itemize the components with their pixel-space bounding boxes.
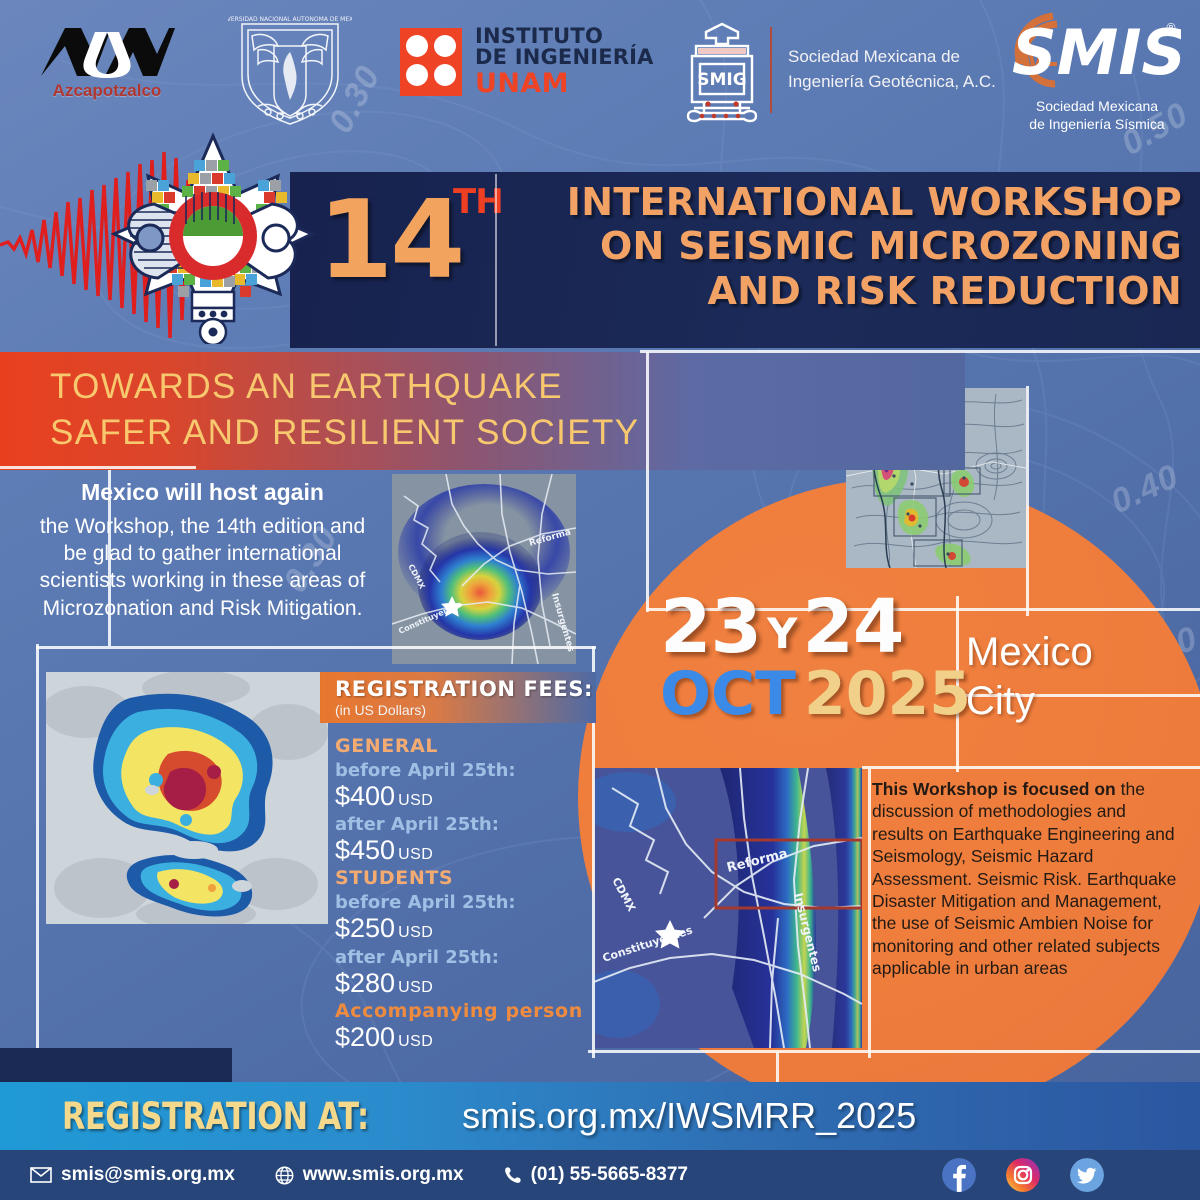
- guide-line: [36, 646, 596, 649]
- phone-icon: [504, 1166, 522, 1184]
- fee-currency: USD: [398, 846, 433, 863]
- logo-smig: SMIG Sociedad Mexicana de Ingeniería Geo…: [682, 16, 996, 124]
- fee-amount: $450USD: [335, 835, 596, 865]
- map-valley-of-mexico-zonation: [46, 672, 328, 924]
- fee-amount-value: $250: [335, 913, 395, 943]
- guide-line: [1026, 386, 1029, 616]
- guide-line: [862, 766, 1200, 769]
- subtitle-line1: TOWARDS AN EARTHQUAKE: [50, 364, 850, 410]
- event-month: OCT: [660, 659, 796, 729]
- fee-currency: USD: [398, 979, 433, 996]
- fees-title: REGISTRATION FEES:: [335, 677, 596, 701]
- title-divider: [495, 174, 497, 346]
- fee-when: before April 25th:: [335, 892, 596, 913]
- workshop-title-line1: INTERNATIONAL WORKSHOP: [502, 180, 1182, 224]
- logo-uam-azcapotzalco: Azcapotzalco: [22, 24, 192, 101]
- registration-fees-panel: REGISTRATION FEES: (in US Dollars) GENER…: [320, 672, 596, 1052]
- fee-currency: USD: [398, 924, 433, 941]
- fees-body: GENERAL before April 25th: $400USD after…: [320, 723, 596, 1052]
- registration-label: REGISTRATION AT:: [62, 1095, 369, 1138]
- smis-line2: de Ingeniería Sísmica: [1002, 116, 1192, 134]
- logo-smis: SMIS ® Sociedad Mexicana de Ingeniería S…: [1002, 12, 1192, 133]
- envelope-icon: [30, 1167, 52, 1183]
- subtitle-text: TOWARDS AN EARTHQUAKE SAFER AND RESILIEN…: [50, 364, 850, 456]
- title-block: 14 TH INTERNATIONAL WORKSHOP ON SEISMIC …: [290, 172, 1200, 348]
- fee-category-accompanying: Accompanying person: [335, 1000, 596, 1022]
- fee-amount: $200USD: [335, 1022, 596, 1052]
- guide-line: [640, 350, 1200, 353]
- fee-amount: $280USD: [335, 968, 596, 998]
- smis-wordmark: Sociedad Mexicana de Ingeniería Sísmica: [1002, 98, 1192, 133]
- fee-currency: USD: [398, 1033, 433, 1050]
- guide-line: [646, 352, 649, 612]
- poster-canvas: 0.30 0.40 0.50 0.30 0.40 Azcapotzalco: [0, 0, 1200, 1200]
- guide-line: [36, 644, 39, 1048]
- fee-when: after April 25th:: [335, 814, 596, 835]
- event-day-1: 23: [660, 584, 761, 670]
- contact-phone-text: (01) 55-5665-8377: [531, 1164, 688, 1186]
- guide-line: [776, 1052, 779, 1082]
- fee-category-general: GENERAL: [335, 735, 596, 757]
- event-city-line2: City: [966, 677, 1093, 726]
- bottom-left-navy-corner: [0, 1048, 232, 1084]
- event-year: 2025: [804, 659, 971, 729]
- twitter-icon[interactable]: [1070, 1158, 1104, 1192]
- workshop-title-line3: AND RISK REDUCTION: [502, 269, 1182, 313]
- uam-logo-subtitle: Azcapotzalco: [22, 81, 192, 101]
- fee-amount-value: $450: [335, 835, 395, 865]
- smig-wordmark: Sociedad Mexicana de Ingeniería Geotécni…: [788, 45, 996, 94]
- smig-divider: [770, 27, 772, 113]
- facebook-icon[interactable]: [942, 1158, 976, 1192]
- smig-line2: Ingeniería Geotécnica, A.C.: [788, 70, 996, 95]
- globe-icon: [275, 1166, 294, 1185]
- smig-line1: Sociedad Mexicana de: [788, 45, 996, 70]
- fee-amount: $400USD: [335, 781, 596, 811]
- fee-when: before April 25th:: [335, 760, 596, 781]
- fee-when: after April 25th:: [335, 947, 596, 968]
- event-date-block: 23Y24 OCT2025: [660, 592, 971, 724]
- fee-amount-value: $280: [335, 968, 395, 998]
- registration-url[interactable]: smis.org.mx/IWSMRR_2025: [462, 1095, 916, 1137]
- contact-bar: smis@smis.org.mx www.smis.org.mx (01) 55…: [0, 1150, 1200, 1200]
- social-links: [942, 1158, 1104, 1192]
- event-day-2: 24: [802, 584, 903, 670]
- workshop-focus-paragraph: This Workshop is focused on the discussi…: [872, 778, 1182, 980]
- map-mexico-city-amplification: Reforma Insurgentes Constituyentes CDMX: [392, 474, 576, 664]
- contact-website-text: www.smis.org.mx: [303, 1164, 464, 1186]
- iingen-window-icon: [400, 28, 462, 96]
- uam-logo-icon: [37, 24, 177, 78]
- workshop-title-line2: ON SEISMIC MICROZONING: [502, 224, 1182, 268]
- svg-text:SMIS: SMIS: [1013, 16, 1181, 89]
- registration-bar: REGISTRATION AT: smis.org.mx/IWSMRR_2025: [0, 1082, 1200, 1150]
- subtitle-line2: SAFER AND RESILIENT SOCIETY: [50, 410, 850, 456]
- logo-instituto-ingenieria-unam: INSTITUTO DE INGENIERÍA UNAM: [400, 26, 654, 97]
- unam-shield-icon: UNIVERSIDAD NACIONAL AUTONOMA DE MEXICO: [228, 10, 352, 130]
- contact-phone[interactable]: (01) 55-5665-8377: [504, 1164, 688, 1186]
- smig-logo-icon: SMIG: [682, 16, 762, 124]
- contact-email[interactable]: smis@smis.org.mx: [30, 1164, 235, 1186]
- iingen-wordmark: INSTITUTO DE INGENIERÍA UNAM: [475, 26, 654, 97]
- fees-header: REGISTRATION FEES: (in US Dollars): [320, 672, 596, 723]
- contact-website[interactable]: www.smis.org.mx: [275, 1164, 464, 1186]
- svg-text:UNIVERSIDAD NACIONAL AUTONOMA: UNIVERSIDAD NACIONAL AUTONOMA DE MEXICO: [228, 16, 352, 23]
- svg-text:SMIG: SMIG: [697, 70, 746, 90]
- guide-line: [588, 1050, 1200, 1053]
- intro-heading: Mexico will host again: [30, 478, 375, 508]
- smis-logo-icon: SMIS ®: [1013, 12, 1181, 96]
- event-month-year: OCT2025: [660, 665, 971, 724]
- subtitle-band: TOWARDS AN EARTHQUAKE SAFER AND RESILIEN…: [0, 352, 965, 470]
- event-days: 23Y24: [660, 592, 971, 663]
- aztec-ollin-glyph-icon: [108, 132, 318, 344]
- edition-number: 14: [318, 178, 462, 303]
- intro-body: the Workshop, the 14th edition and be gl…: [30, 513, 375, 622]
- focus-lead: This Workshop is focused on: [872, 779, 1116, 799]
- fee-currency: USD: [398, 792, 433, 809]
- intro-paragraph: Mexico will host again the Workshop, the…: [30, 478, 375, 622]
- contact-email-text: smis@smis.org.mx: [61, 1164, 235, 1186]
- logo-bar: Azcapotzalco UNIVERSIDAD NACIONAL AUTONO…: [0, 0, 1200, 140]
- fee-amount-value: $400: [335, 781, 395, 811]
- svg-text:®: ®: [1165, 21, 1177, 35]
- iingen-line3: UNAM: [475, 70, 654, 98]
- smis-line1: Sociedad Mexicana: [1002, 98, 1192, 116]
- focus-rest: the discussion of methodologies and resu…: [872, 779, 1176, 978]
- iingen-line2: DE INGENIERÍA: [475, 47, 654, 68]
- guide-line: [868, 768, 871, 1058]
- event-city: Mexico City: [966, 628, 1093, 726]
- event-city-line1: Mexico: [966, 628, 1093, 677]
- fee-amount-value: $200: [335, 1022, 395, 1052]
- fee-amount: $250USD: [335, 913, 596, 943]
- map-reforma-corridor-wavefield: Reforma Insurgentes Constituyentes CDMX: [594, 768, 862, 1048]
- fees-currency-note: (in US Dollars): [335, 702, 596, 718]
- guide-line: [0, 466, 196, 469]
- instagram-icon[interactable]: [1006, 1158, 1040, 1192]
- event-conjunction: Y: [767, 609, 796, 658]
- fee-category-students: STUDENTS: [335, 867, 596, 889]
- workshop-title: INTERNATIONAL WORKSHOP ON SEISMIC MICROZ…: [502, 180, 1182, 313]
